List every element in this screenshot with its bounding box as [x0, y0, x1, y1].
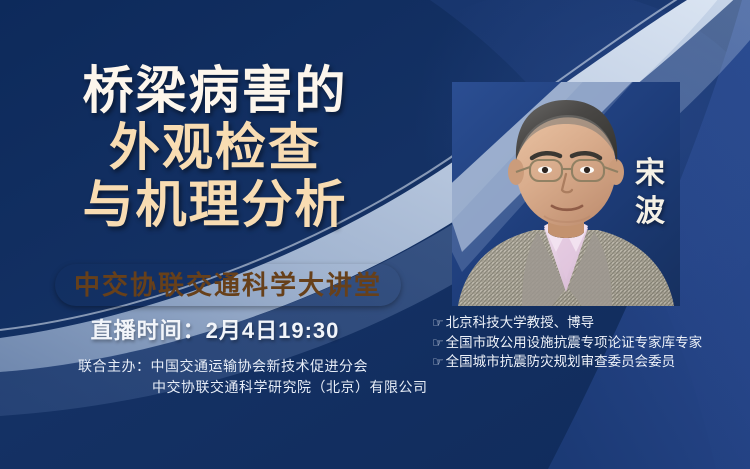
title-line-2: 外观检查: [0, 119, 430, 176]
speaker-name: 宋 波: [628, 155, 672, 231]
live-time: 直播时间：2月4日19:30: [0, 313, 430, 345]
series-banner-pill: 中交协联交通科学大讲堂: [55, 264, 401, 306]
series-banner-label: 中交协联交通科学大讲堂: [74, 272, 382, 298]
organizer-line-2: 中交协联交通科学研究院（北京）有限公司: [78, 377, 438, 398]
poster-title: 桥梁病害的 外观检查 与机理分析: [0, 62, 430, 233]
title-line-3: 与机理分析: [0, 176, 430, 233]
credential-text: 全国市政公用设施抗震专项论证专家库专家: [446, 333, 703, 353]
credential-text: 全国城市抗震防灾规划审查委员会委员: [446, 352, 676, 372]
credential-item: ☞ 全国城市抗震防灾规划审查委员会委员: [432, 352, 702, 372]
pointing-hand-icon: ☞: [432, 352, 444, 372]
speaker-credentials: ☞ 北京科技大学教授、博导 ☞ 全国市政公用设施抗震专项论证专家库专家 ☞ 全国…: [432, 313, 702, 372]
speaker-name-char-1: 宋: [628, 155, 672, 193]
pointing-hand-icon: ☞: [432, 333, 444, 353]
organizers: 联合主办：中国交通运输协会新技术促进分会 中交协联交通科学研究院（北京）有限公司: [78, 356, 438, 398]
pointing-hand-icon: ☞: [432, 313, 444, 333]
series-banner: 中交协联交通科学大讲堂: [55, 264, 401, 306]
credential-item: ☞ 全国市政公用设施抗震专项论证专家库专家: [432, 333, 702, 353]
organizer-line-1: 联合主办：中国交通运输协会新技术促进分会: [78, 356, 438, 377]
credential-text: 北京科技大学教授、博导: [446, 313, 595, 333]
webinar-poster: 宋 波 桥梁病害的 外观检查 与机理分析 中交协联交通科学大讲堂 直播时间：2月…: [0, 0, 750, 469]
speaker-name-char-2: 波: [628, 193, 672, 231]
credential-item: ☞ 北京科技大学教授、博导: [432, 313, 702, 333]
title-line-1: 桥梁病害的: [0, 62, 430, 119]
